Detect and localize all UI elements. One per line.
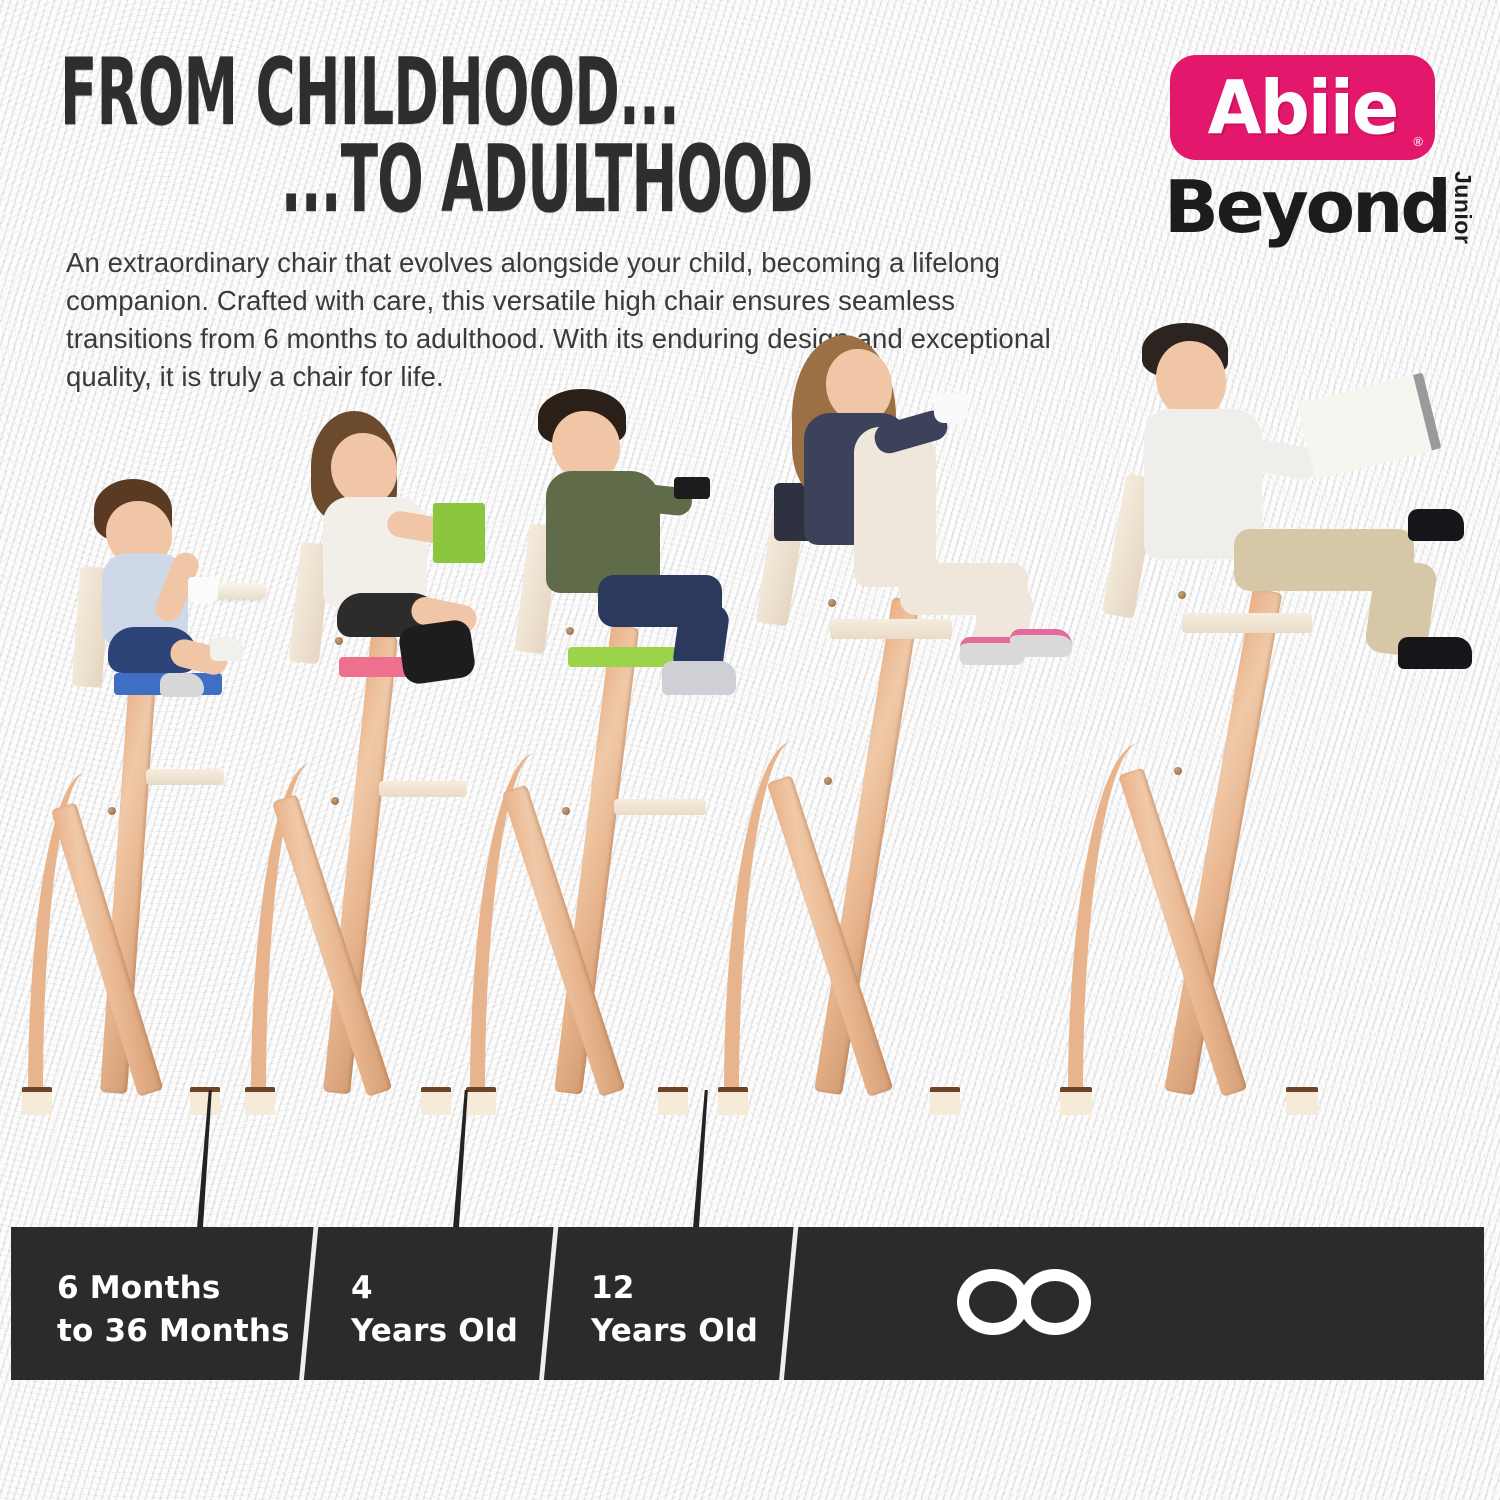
- man-head: [1156, 341, 1226, 419]
- chair-footrest: [379, 781, 467, 797]
- figure-boy-with-phone: [462, 475, 752, 1115]
- page-title: FROM CHILDHOOD... ...TO ADULTHOOD: [60, 52, 1020, 206]
- product-name: Beyond: [1164, 165, 1449, 249]
- figure-toddler-in-high-chair: [18, 475, 268, 1115]
- timeline-connectors: [0, 1090, 1500, 1240]
- headline-line-2: ...TO ADULTHOOD: [60, 139, 828, 221]
- chair-screw: [562, 807, 570, 815]
- chair-footrest: [146, 769, 224, 785]
- man-sock-upper: [1408, 509, 1464, 541]
- chair-footrest: [614, 799, 706, 815]
- headline-line-1: FROM CHILDHOOD...: [60, 52, 828, 134]
- connector-line: [196, 1090, 218, 1240]
- brand-badge: Abiie ®: [1170, 55, 1435, 160]
- banner-divider: [533, 1227, 567, 1380]
- chair-screw: [331, 797, 339, 805]
- banner-label-4-years-old: 4 Years Old: [351, 1267, 518, 1353]
- person-boy: [506, 389, 736, 679]
- banner-divider: [773, 1227, 807, 1380]
- figure-man-reading-newspaper: [1058, 475, 1488, 1115]
- chair-screw: [1174, 767, 1182, 775]
- figure-woman-with-cup: [718, 475, 1058, 1115]
- woman-cup: [934, 393, 968, 423]
- chair-screw: [824, 777, 832, 785]
- banner-label-6-to-36-months: 6 Months to 36 Months: [57, 1267, 290, 1353]
- girl-head: [331, 433, 397, 505]
- person-woman: [770, 335, 1060, 655]
- product-variant: Junior: [1449, 171, 1476, 244]
- infinity-ring-right: [1019, 1269, 1091, 1335]
- brand-name: Abiie: [1208, 64, 1398, 151]
- infinity-icon: [957, 1269, 1095, 1335]
- brand-logo: Abiie ® Beyond Junior: [1158, 55, 1478, 270]
- person-girl: [283, 411, 483, 691]
- connector-line: [692, 1090, 714, 1240]
- banner-divider: [293, 1227, 327, 1380]
- banner-label-12-years-old: 12 Years Old: [591, 1267, 758, 1353]
- registered-trademark-icon: ®: [1413, 134, 1423, 149]
- toddler-cup: [188, 577, 218, 603]
- product-lifecycle-photo-row: [0, 455, 1500, 1115]
- age-timeline-banner: 6 Months to 36 Months 4 Years Old 12 Yea…: [11, 1227, 1484, 1380]
- woman-head: [826, 349, 892, 423]
- boy-phone: [674, 477, 710, 499]
- person-toddler: [60, 477, 240, 707]
- toddler-shoe: [210, 637, 244, 661]
- chair-screw: [108, 807, 116, 815]
- person-man: [1108, 323, 1498, 653]
- toddler-sock: [160, 673, 204, 697]
- man-newspaper: [1296, 372, 1441, 479]
- connector-line: [452, 1090, 474, 1240]
- man-sock-lower: [1398, 637, 1472, 669]
